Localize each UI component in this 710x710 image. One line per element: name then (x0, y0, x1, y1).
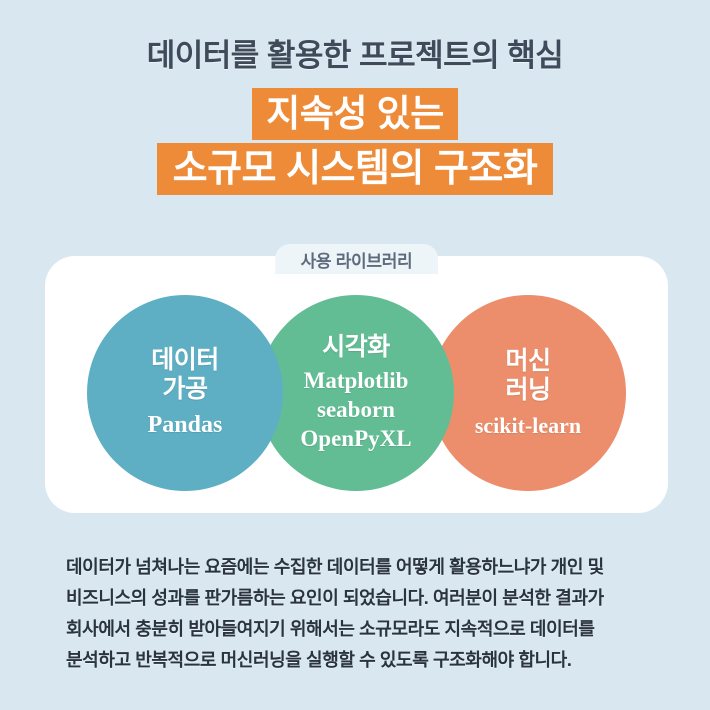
circle-library-list: Matplotlib seaborn OpenPyXL (300, 366, 411, 453)
library-item: scikit-learn (475, 411, 581, 440)
card-tab-label: 사용 라이브러리 (301, 247, 413, 272)
paragraph-line: 분석하고 반복적으로 머신러닝을 실행할 수 있도록 구조화해야 합니다. (66, 645, 646, 676)
circle-title-line-1: 시각화 (322, 333, 390, 362)
circle-title-line-2: 러닝 (505, 376, 550, 405)
paragraph-line: 회사에서 충분히 받아들여지기 위해서는 소규모라도 지속적으로 데이터를 (66, 614, 646, 645)
paragraph-line: 비즈니스의 성과를 판가름하는 요인이 되었습니다. 여러분이 분석한 결과가 (66, 583, 646, 614)
circle-data-processing: 데이터 가공 Pandas (87, 295, 283, 491)
headline-row-1: 지속성 있는 (0, 88, 710, 140)
circle-machine-learning: 머신 러닝 scikit-learn (430, 295, 626, 491)
circle-title-line-2: 가공 (151, 375, 219, 404)
page-kicker: 데이터를 활용한 프로젝트의 핵심 (0, 36, 710, 76)
circle-title: 머신 러닝 (505, 347, 550, 405)
circle-visualization: 시각화 Matplotlib seaborn OpenPyXL (258, 295, 454, 491)
headline-row-2: 소규모 시스템의 구조화 (0, 143, 710, 195)
library-card: 사용 라이브러리 데이터 가공 Pandas 시각화 Matplotlib se… (45, 244, 668, 514)
headline-highlight-1: 지속성 있는 (252, 88, 457, 140)
headline-highlight-2: 소규모 시스템의 구조화 (157, 143, 554, 195)
circle-title: 데이터 가공 (151, 346, 219, 404)
circle-group: 데이터 가공 Pandas 시각화 Matplotlib seaborn Ope… (45, 256, 668, 513)
card-tab: 사용 라이브러리 (275, 244, 439, 274)
library-item: OpenPyXL (300, 424, 411, 453)
circle-title-line-1: 데이터 (151, 346, 219, 375)
library-item: Matplotlib (300, 366, 411, 395)
library-item: seaborn (300, 395, 411, 424)
body-paragraph: 데이터가 넘쳐나는 요즘에는 수집한 데이터를 어떻게 활용하느냐가 개인 및 … (66, 552, 646, 676)
infographic-page: { "header": { "kicker": "데이터를 활용한 프로젝트의 … (0, 0, 710, 710)
library-item: Pandas (148, 411, 223, 440)
circle-title: 시각화 (322, 333, 390, 362)
header-block: 데이터를 활용한 프로젝트의 핵심 지속성 있는 소규모 시스템의 구조화 (0, 0, 710, 215)
circle-library-list: Pandas (148, 411, 223, 440)
circle-title-line-1: 머신 (505, 347, 550, 376)
paragraph-line: 데이터가 넘쳐나는 요즘에는 수집한 데이터를 어떻게 활용하느냐가 개인 및 (66, 552, 646, 583)
circle-library-list: scikit-learn (475, 411, 581, 440)
